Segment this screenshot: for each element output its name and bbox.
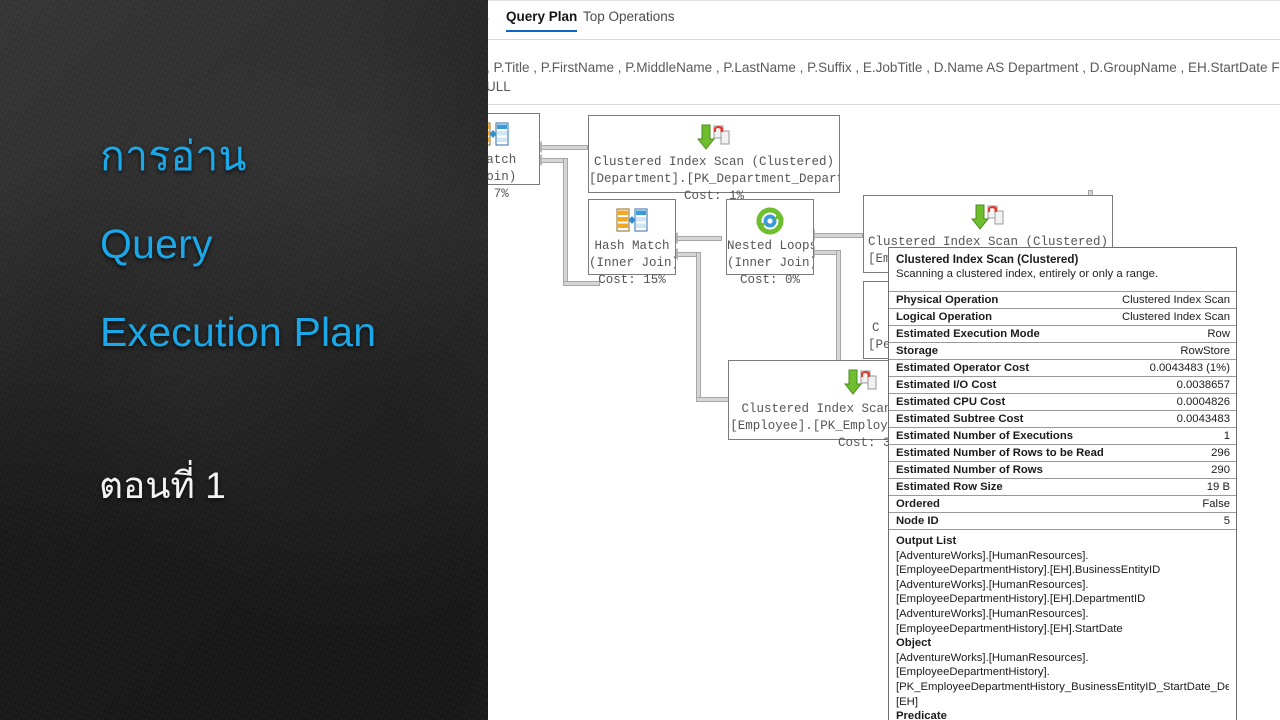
tooltip-property-key: Estimated Row Size [889,479,1113,496]
tooltip-property-key: Estimated Execution Mode [889,326,1113,343]
slide-subtitle: ตอนที่ 1 [99,463,226,509]
tooltip-property-key: Estimated Number of Rows [889,462,1113,479]
query-text-line-2: ULL [488,79,511,94]
operator-tooltip: Clustered Index Scan (Clustered) Scannin… [888,247,1237,720]
title-panel: การอ่าน Query Execution Plan ตอนที่ 1 [0,0,488,720]
tooltip-property-value: 5 [1113,513,1236,530]
tab-query-plan[interactable]: Query Plan [506,9,577,24]
tooltip-section-line: [AdventureWorks].[HumanResources]. [896,607,1229,622]
tooltip-property-value: False [1113,496,1236,513]
tooltip-property-value: Clustered Index Scan [1113,309,1236,326]
tooltip-property-row: Estimated Subtree Cost0.0043483 [889,411,1236,428]
tooltip-property-key: Storage [889,343,1113,360]
tooltip-property-row: Estimated Number of Rows to be Read296 [889,445,1236,462]
connector-pipe [540,145,588,150]
nested-loops-icon [753,206,787,236]
hash-match-icon [615,206,649,236]
tooltip-section-line: [EmployeeDepartmentHistory].[EH].StartDa… [896,622,1229,637]
tooltip-property-row: Estimated I/O Cost0.0038657 [889,377,1236,394]
tooltip-spacer [896,282,1229,289]
tab-active-underline [506,30,577,33]
tab-query-plan-label: Query Plan [506,9,577,24]
tooltip-property-row: Estimated Number of Rows290 [889,462,1236,479]
clustered-index-scan-icon [844,367,878,397]
tooltip-property-key: Logical Operation [889,309,1113,326]
slide-title-line-3: Execution Plan [100,288,480,376]
tooltip-section-line: [EmployeeDepartmentHistory].[EH].Busines… [896,563,1229,578]
connector-pipe [696,252,701,402]
tooltip-property-key: Estimated I/O Cost [889,377,1113,394]
tooltip-section-line: [PK_EmployeeDepartmentHistory_BusinessEn… [896,680,1229,695]
connector-pipe [813,233,863,238]
tooltip-section-heading: Output List [896,534,1229,549]
tooltip-property-row: OrderedFalse [889,496,1236,513]
plan-node-hash-match-outer[interactable]: , Match r Join) t: 7% [488,113,540,185]
tooltip-property-value: RowStore [1113,343,1236,360]
query-text-line-1: , P.Title , P.FirstName , P.MiddleName ,… [488,60,1280,75]
tooltip-property-row: Node ID5 [889,513,1236,530]
tooltip-description: Scanning a clustered index, entirely or … [896,267,1229,282]
slide-title-line-2: Query [100,200,480,288]
clustered-index-scan-icon [971,202,1005,232]
tooltip-detail-list: Output List[AdventureWorks].[HumanResour… [889,529,1236,720]
tab-top-operations[interactable]: Top Operations [583,9,675,24]
tooltip-property-key: Estimated Number of Executions [889,428,1113,445]
plan-node-label: Clustered Index Scan (Clustered) [Depart… [589,154,839,205]
tooltip-property-value: 0.0004826 [1113,394,1236,411]
connector-pipe [696,397,731,402]
tooltip-property-value: Clustered Index Scan [1113,292,1236,309]
slide-canvas: การอ่าน Query Execution Plan ตอนที่ 1 s … [0,0,1280,720]
plan-node-nested-loops[interactable]: Nested Loops (Inner Join) Cost: 0% [726,199,814,275]
query-plan-canvas[interactable]: , Match r Join) t: 7% Clustered Index [488,105,1280,720]
plan-node-label: Clustered Index Scan [Employee].[PK_Empl… [729,401,904,452]
tooltip-property-value: 0.0043483 (1%) [1113,360,1236,377]
tooltip-property-key: Estimated Operator Cost [889,360,1113,377]
tooltip-property-row: StorageRowStore [889,343,1236,360]
plan-node-clustered-index-scan-employee[interactable]: Clustered Index Scan [Employee].[PK_Empl… [728,360,905,440]
tooltip-property-value: 0.0043483 [1113,411,1236,428]
tooltip-section-line: [AdventureWorks].[HumanResources]. [896,578,1229,593]
plan-node-hash-match-inner[interactable]: Hash Match (Inner Join) Cost: 15% [588,199,676,275]
tooltip-property-row: Estimated Operator Cost0.0043483 (1%) [889,360,1236,377]
ssms-results-pane: s Query Plan Top Operations , P.Title , … [488,0,1280,720]
tooltip-property-value: 296 [1113,445,1236,462]
hash-match-icon [488,120,510,150]
tooltip-properties-table: Physical OperationClustered Index ScanLo… [889,291,1236,529]
tooltip-section-line: [AdventureWorks].[HumanResources]. [896,651,1229,666]
tooltip-property-value: 290 [1113,462,1236,479]
tooltip-section-heading: Object [896,636,1229,651]
tabstrip-top-rule [488,0,1280,1]
tooltip-property-key: Estimated CPU Cost [889,394,1113,411]
query-text-header: , P.Title , P.FirstName , P.MiddleName ,… [488,40,1280,105]
plan-node-label: Hash Match (Inner Join) Cost: 15% [589,238,675,289]
slide-title: การอ่าน Query Execution Plan [100,112,480,376]
tooltip-property-value: Row [1113,326,1236,343]
clustered-index-scan-icon [697,122,731,152]
tab-results-partial[interactable]: s [488,9,489,24]
connector-pipe [836,250,841,375]
tooltip-property-row: Physical OperationClustered Index Scan [889,292,1236,309]
tooltip-property-key: Node ID [889,513,1113,530]
connector-pipe [563,158,568,286]
tooltip-section-line: [EmployeeDepartmentHistory]. [896,665,1229,680]
tooltip-property-value: 19 B [1113,479,1236,496]
tooltip-property-key: Ordered [889,496,1113,513]
tooltip-property-value: 0.0038657 [1113,377,1236,394]
tooltip-property-value: 1 [1113,428,1236,445]
tooltip-property-row: Estimated Row Size19 B [889,479,1236,496]
tooltip-property-row: Estimated Execution ModeRow [889,326,1236,343]
tooltip-property-key: Estimated Subtree Cost [889,411,1113,428]
tooltip-property-key: Estimated Number of Rows to be Read [889,445,1113,462]
tooltip-property-row: Logical OperationClustered Index Scan [889,309,1236,326]
plan-node-label: Nested Loops (Inner Join) Cost: 0% [727,238,813,289]
tooltip-section-heading: Predicate [896,709,1229,720]
results-tabstrip: s Query Plan Top Operations [488,0,1280,40]
tooltip-sections: Output List[AdventureWorks].[HumanResour… [889,529,1236,720]
tooltip-property-row: Estimated Number of Executions1 [889,428,1236,445]
tooltip-property-key: Physical Operation [889,292,1113,309]
connector-pipe [676,236,722,241]
tooltip-section-line: [EH] [896,695,1229,710]
tooltip-section-line: [AdventureWorks].[HumanResources]. [896,549,1229,564]
plan-node-label: , Match r Join) t: 7% [488,152,539,203]
slide-title-line-1: การอ่าน [100,112,480,200]
plan-node-clustered-index-scan-department[interactable]: Clustered Index Scan (Clustered) [Depart… [588,115,840,193]
tooltip-title: Clustered Index Scan (Clustered) [896,253,1229,267]
tooltip-section-line: [EmployeeDepartmentHistory].[EH].Departm… [896,592,1229,607]
tooltip-header: Clustered Index Scan (Clustered) Scannin… [889,248,1236,291]
tooltip-property-row: Estimated CPU Cost0.0004826 [889,394,1236,411]
